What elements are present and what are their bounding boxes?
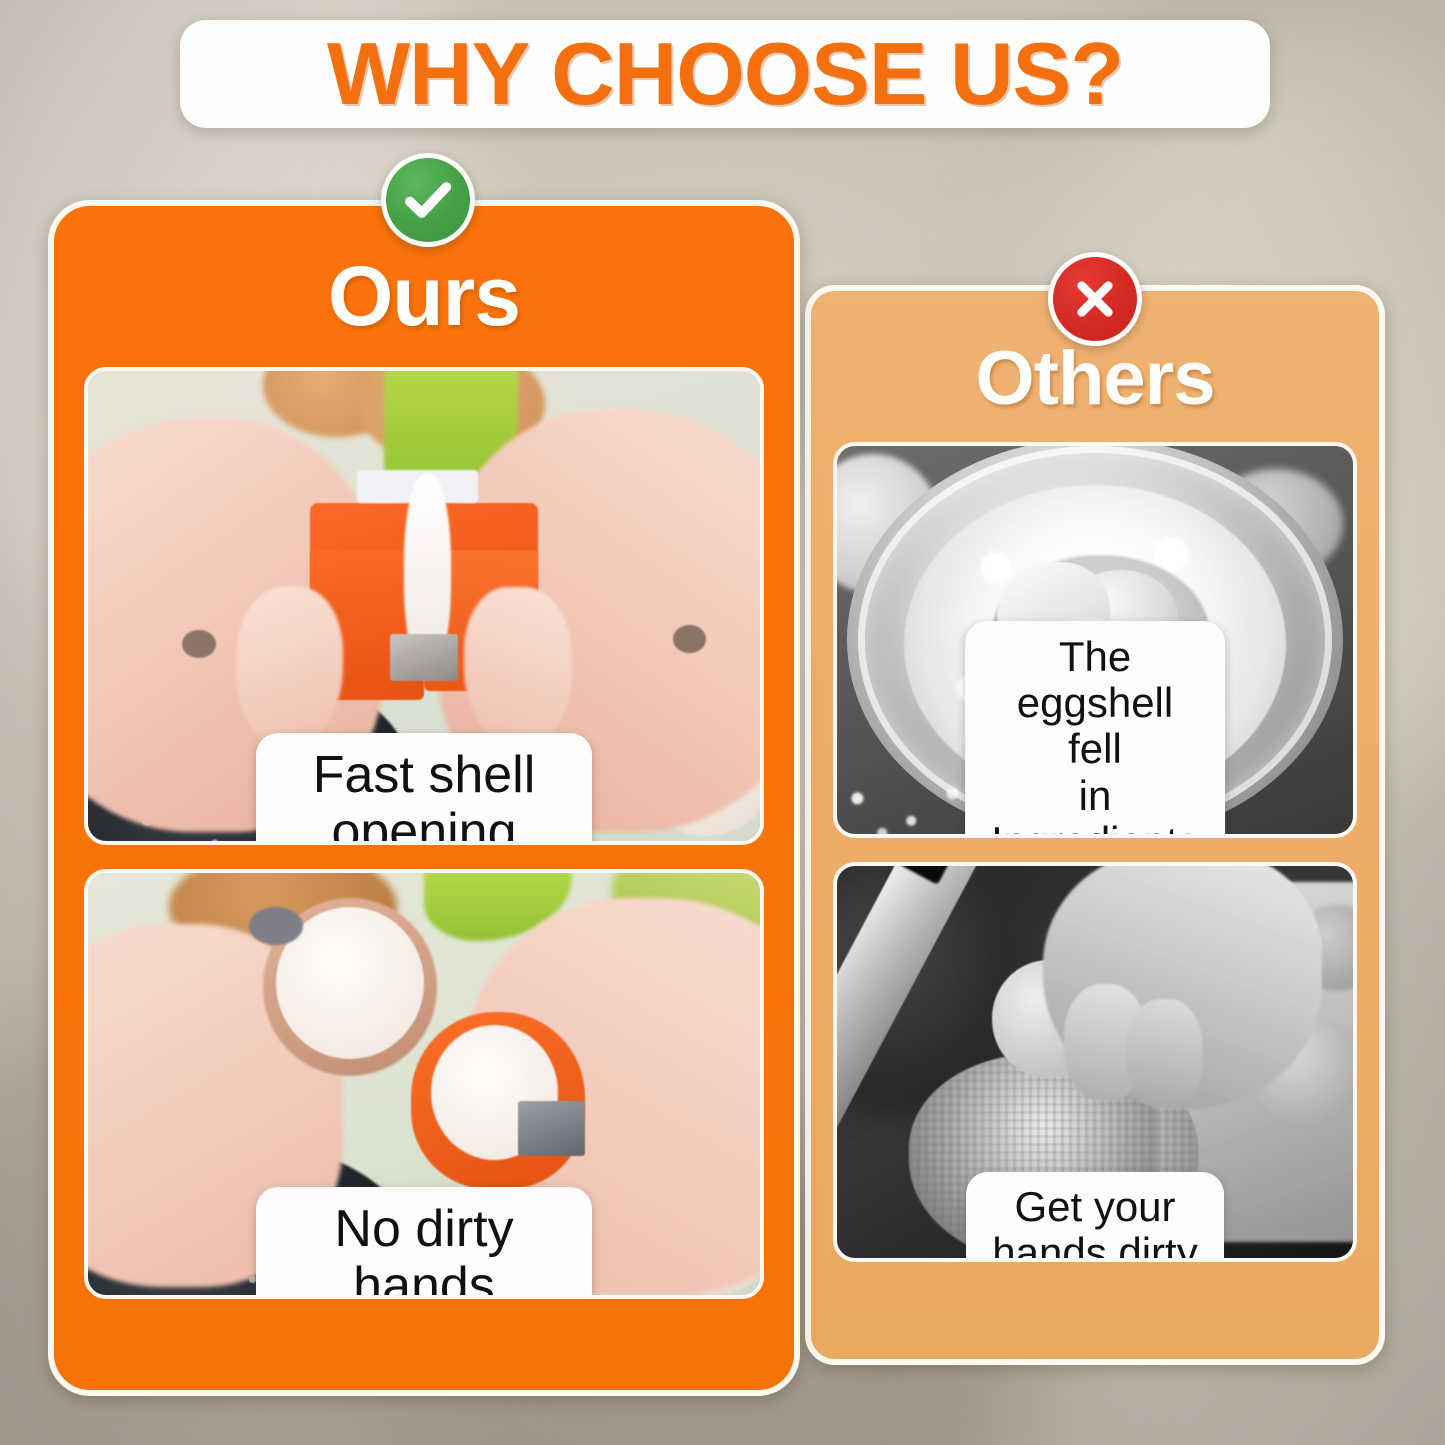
- caption-fast-shell-opening: Fast shell opening: [256, 733, 592, 845]
- panel-others-heading: Others: [811, 335, 1379, 422]
- caption-eggshell-fell-in-ingredients: The eggshell fell in Ingredients: [965, 621, 1225, 838]
- photo-card-no-dirty-hands: No dirty hands: [84, 869, 764, 1299]
- caption-get-your-hands-dirty: Get your hands dirty: [966, 1172, 1224, 1262]
- panel-ours: Ours: [48, 200, 800, 1396]
- caption-no-dirty-hands: No dirty hands: [256, 1187, 592, 1299]
- close-icon: [1066, 270, 1124, 328]
- panel-others: Others The eggshell fell in Ingredients: [805, 285, 1385, 1365]
- check-badge: [381, 153, 475, 247]
- photo-card-fast-shell-opening: Fast shell opening: [84, 367, 764, 845]
- panel-ours-heading: Ours: [54, 248, 794, 345]
- page-title: WHY CHOOSE US?: [327, 23, 1123, 125]
- photo-card-get-hands-dirty: Get your hands dirty: [833, 862, 1357, 1262]
- comparison-infographic: WHY CHOOSE US? Ours: [0, 0, 1445, 1445]
- cross-badge: [1048, 252, 1142, 346]
- check-icon: [399, 171, 457, 229]
- title-banner: WHY CHOOSE US?: [180, 20, 1270, 128]
- photo-card-eggshell-fell: The eggshell fell in Ingredients: [833, 442, 1357, 838]
